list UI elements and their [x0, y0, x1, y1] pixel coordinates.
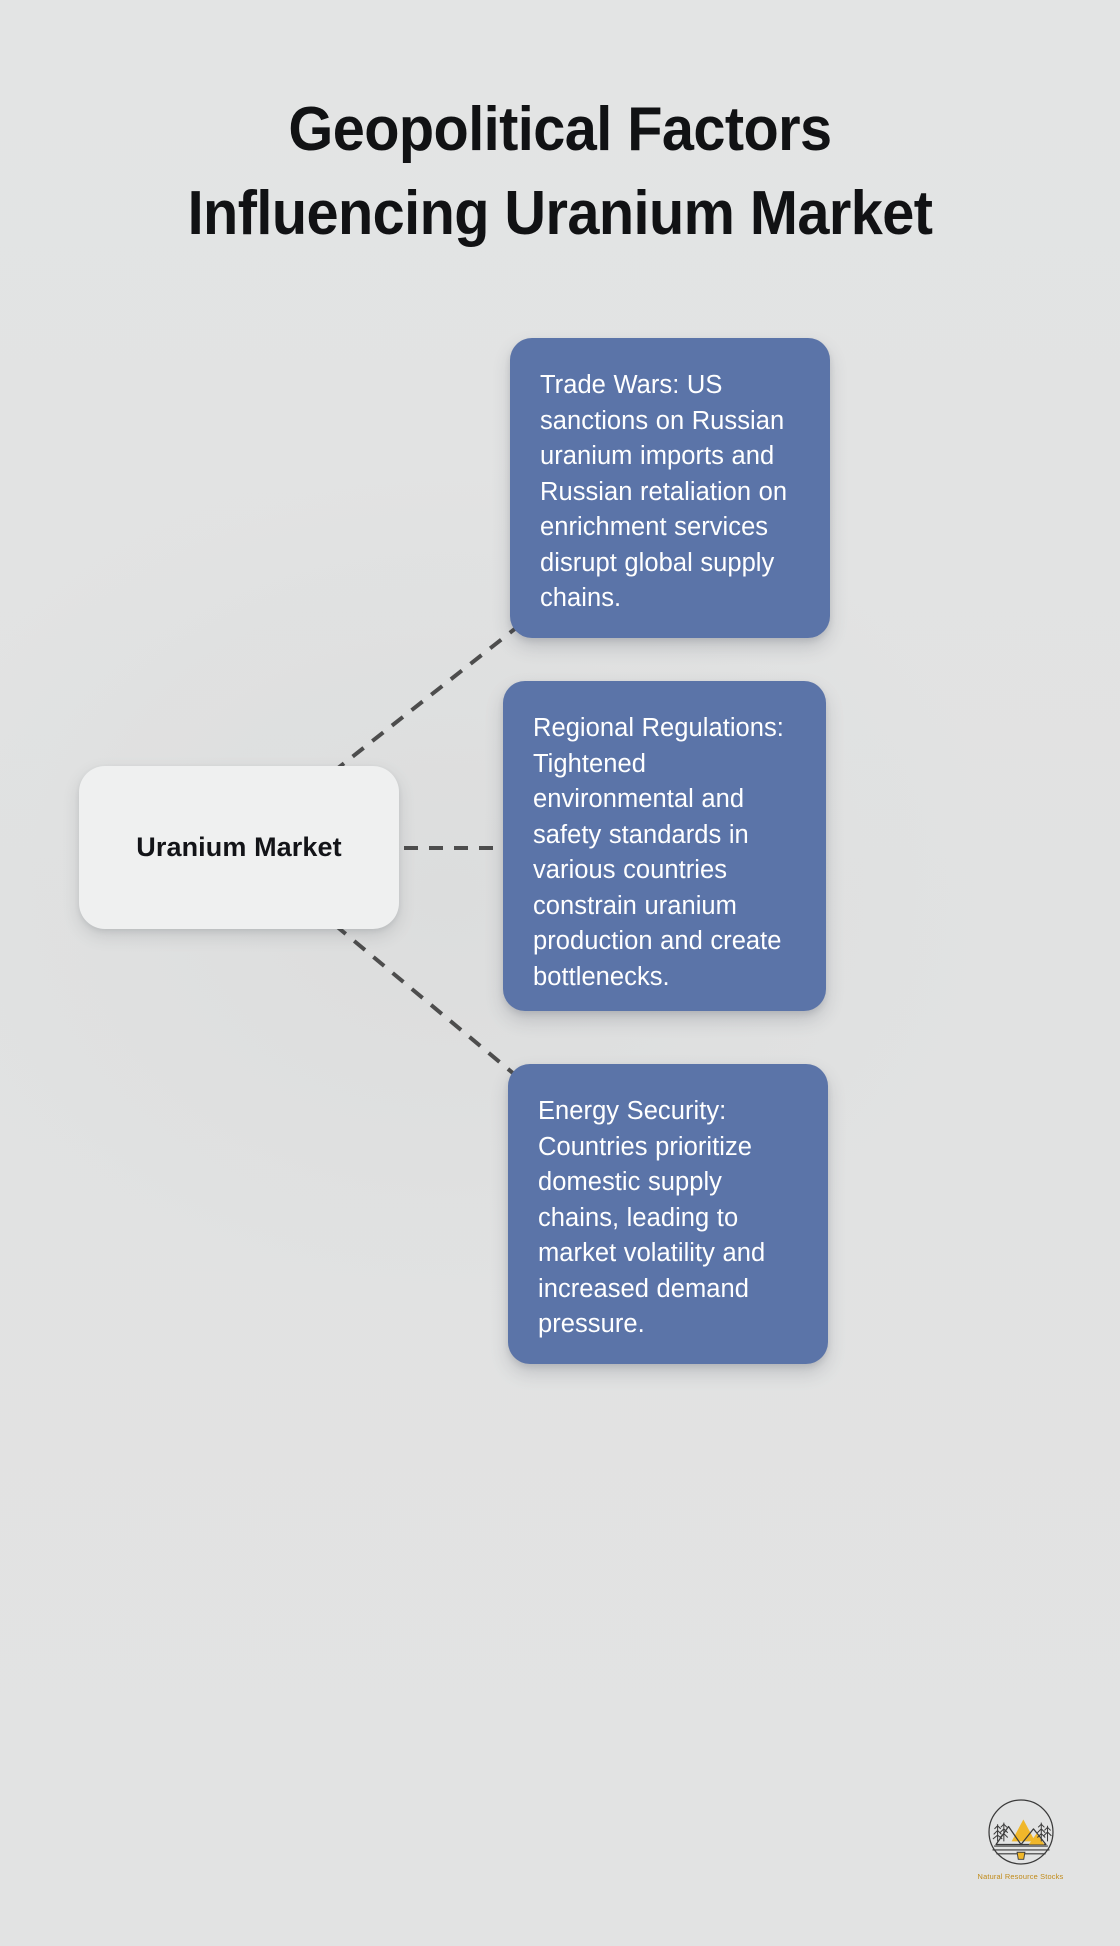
branch-card-text: Energy Security: Countries prioritize do… [538, 1094, 798, 1343]
branch-card-energy-security[interactable]: Energy Security: Countries prioritize do… [508, 1064, 828, 1364]
branch-card-text: Trade Wars: US sanctions on Russian uran… [540, 368, 800, 617]
brand-logo: Natural Resource Stocks [963, 1793, 1078, 1901]
branch-card-trade-wars[interactable]: Trade Wars: US sanctions on Russian uran… [510, 338, 830, 638]
center-node-uranium-market[interactable]: Uranium Market [79, 766, 399, 929]
branch-card-text: Regional Regulations: Tightened environm… [533, 711, 796, 995]
center-node-label: Uranium Market [136, 832, 341, 863]
branch-card-regional-regulations[interactable]: Regional Regulations: Tightened environm… [503, 681, 826, 1011]
logo-caption: Natural Resource Stocks [978, 1872, 1064, 1881]
connector-to-energy-security [335, 925, 514, 1074]
connector-to-trade-wars [333, 628, 516, 772]
mountain-forest-emblem-icon [982, 1793, 1060, 1871]
infographic-canvas: Geopolitical Factors Influencing Uranium… [0, 0, 1120, 1946]
